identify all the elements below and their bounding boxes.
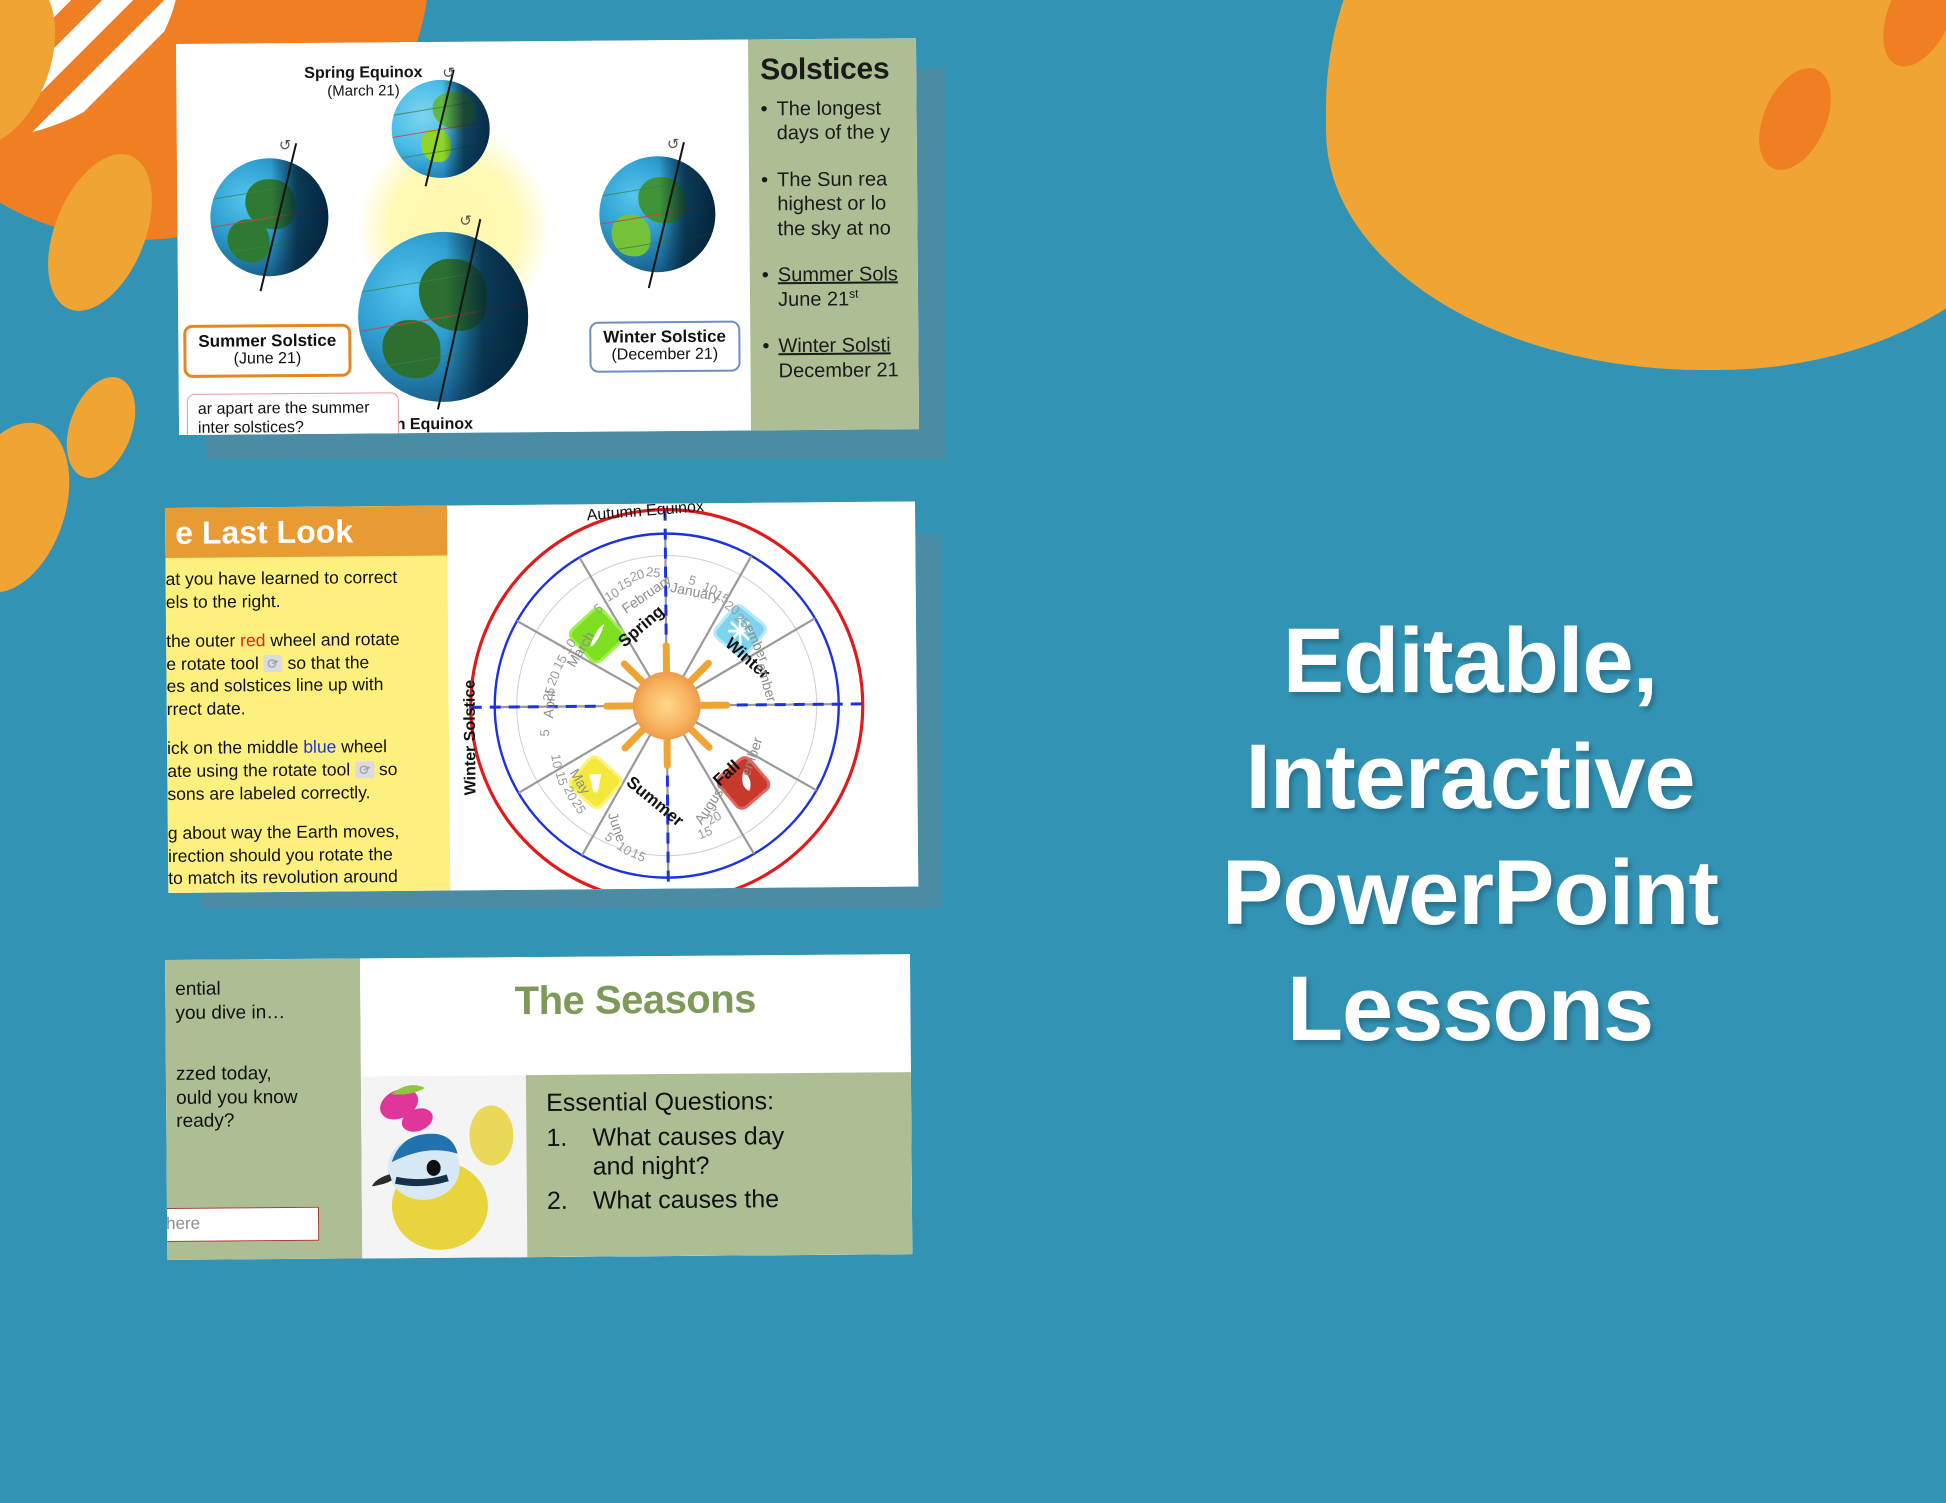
instruction-paragraph: at you have learned to correct els to th… — [166, 566, 440, 614]
prompt-line: zzed today, — [176, 1062, 351, 1087]
svg-text:5: 5 — [537, 729, 552, 737]
bullet-item: • The longest days of the y — [760, 96, 906, 146]
slide-1: ↺ ↺ — [176, 38, 919, 435]
slide-preview-solstices: ↺ ↺ — [176, 44, 946, 459]
slide-3-content-area: The Seasons — [360, 954, 912, 1258]
bullet-item: • Summer Sols June 21st — [762, 262, 908, 313]
seasons-wheel-diagram[interactable]: Spring Summer Fall Winter January Februa… — [455, 501, 879, 890]
headline-line-2: Interactive — [1040, 720, 1900, 836]
rotation-arrow-icon: ↺ — [442, 64, 455, 82]
instruction-paragraph: g about way the Earth moves, irection sh… — [168, 820, 443, 893]
rotation-arrow-icon: ↺ — [667, 135, 680, 153]
prompt-line: ould you know — [176, 1085, 351, 1110]
decorative-ellipse — [0, 0, 77, 163]
bullet-item: • The Sun rea highest or lo the sky at n… — [761, 167, 908, 241]
rotation-arrow-icon: ↺ — [459, 212, 472, 230]
top-left-striped-shape — [0, 0, 180, 140]
instruction-paragraph: ick on the middle blue wheel ate using t… — [167, 735, 442, 805]
instruction-paragraph: the outer red wheel and rotate e rotate … — [166, 628, 441, 721]
decorative-ellipse — [27, 139, 172, 326]
bullet-dot: • — [762, 335, 778, 384]
slide-3-prompt-panel: ential you dive in… zzed today, ould you… — [165, 958, 362, 1260]
svg-text:10: 10 — [548, 753, 565, 770]
answer-input[interactable]: here — [165, 1207, 319, 1242]
headline-line-4: Lessons — [1040, 952, 1900, 1068]
svg-text:25: 25 — [645, 564, 661, 581]
headline-line-3: PowerPoint — [1040, 836, 1900, 952]
bullet-dot: • — [761, 168, 778, 241]
slide-1-text-panel: Solstices • The longest days of the y • … — [748, 38, 919, 430]
slide-2-wheel-area: Spring Summer Fall Winter January Februa… — [447, 501, 918, 890]
slide-2-title: e Last Look — [165, 506, 447, 558]
bullet-dot: • — [760, 97, 776, 146]
headline-line-1: Editable, — [1040, 604, 1900, 720]
season-label-summer: Summer — [623, 772, 688, 830]
essential-questions-panel: Essential Questions: 1. What causes day … — [526, 1071, 912, 1257]
decorative-spot — [1868, 0, 1946, 78]
prompt-line: ready? — [176, 1109, 351, 1134]
rotation-arrow-icon: ↺ — [279, 136, 292, 154]
sun-icon — [606, 645, 727, 766]
prompt-line: ential — [175, 977, 350, 1002]
slide-2-instructions: at you have learned to correct els to th… — [165, 556, 450, 893]
spring-equinox-label: Spring Equinox (March 21) — [304, 64, 423, 102]
winter-solstice-callout: Winter Solstice (December 21) — [589, 321, 740, 373]
slide-preview-last-look: e Last Look at you have learned to corre… — [165, 508, 945, 908]
outer-label-autumn-equinox: Autumn Equinox — [586, 501, 704, 524]
top-right-amber-blob — [1326, 0, 1946, 370]
slide-3: ential you dive in… zzed today, ould you… — [165, 954, 912, 1260]
earth-summer-solstice — [210, 158, 329, 277]
red-keyword: red — [240, 630, 265, 650]
question-text-line-2: inter solstices? — [198, 418, 390, 435]
promo-graphic: ↺ ↺ — [0, 0, 1946, 1503]
blue-keyword: blue — [303, 737, 336, 757]
slide-1-question-box[interactable]: ar apart are the summer inter solstices?… — [187, 392, 399, 435]
svg-text:ember: ember — [754, 661, 781, 704]
decorative-ellipse — [54, 368, 148, 488]
slide-2: e Last Look at you have learned to corre… — [165, 501, 918, 893]
svg-text:15: 15 — [552, 769, 570, 787]
bird-photo — [361, 1075, 527, 1258]
essential-questions-header: Essential Questions: — [546, 1085, 912, 1118]
bullet-item: • Winter Solsti December 21 — [762, 334, 908, 384]
slide-1-diagram-area: ↺ ↺ — [176, 40, 751, 435]
slide-preview-the-seasons: ential you dive in… zzed today, ould you… — [165, 960, 945, 1260]
slide-1-title: Solstices — [760, 52, 906, 87]
outer-label-winter-solstice: Winter Solstice — [462, 680, 480, 796]
slide-3-title: The Seasons — [360, 954, 911, 1025]
slide-2-instruction-panel: e Last Look at you have learned to corre… — [165, 506, 450, 893]
summer-solstice-callout: Summer Solstice (June 21) — [183, 324, 351, 378]
list-item: 2. What causes the — [547, 1183, 913, 1216]
prompt-line: you dive in… — [175, 1000, 350, 1025]
rotate-tool-icon[interactable] — [355, 761, 374, 778]
decorative-spot — [1745, 57, 1846, 181]
question-text-line-1: ar apart are the summer — [198, 399, 390, 419]
essential-questions-list: 1. What causes day and night? 2. What ca… — [546, 1120, 912, 1215]
rotate-tool-icon[interactable] — [264, 655, 283, 672]
decorative-ellipse — [0, 408, 89, 607]
bullet-dot: • — [762, 263, 778, 313]
headline: Editable, Interactive PowerPoint Lessons — [1040, 604, 1900, 1068]
list-item: 1. What causes day and night? — [546, 1120, 912, 1182]
